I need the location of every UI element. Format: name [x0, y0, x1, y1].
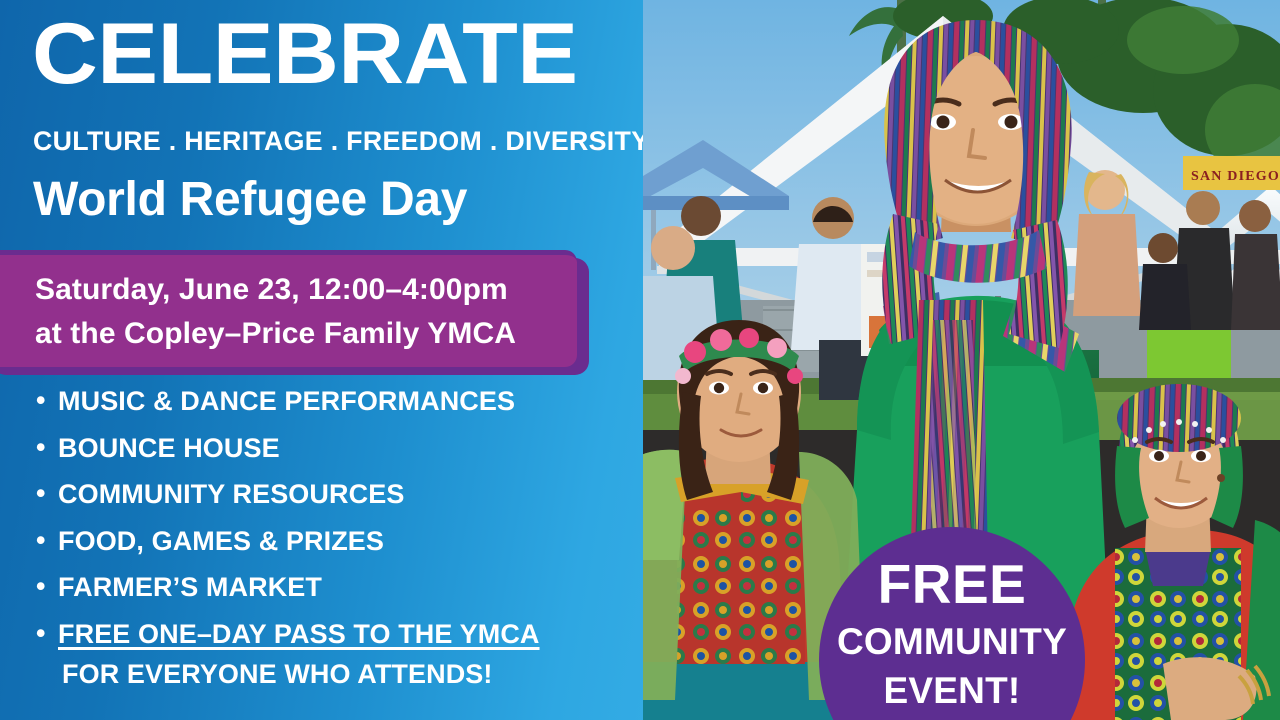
feature-label: FARMER’S MARKET	[58, 572, 322, 602]
list-item: FARMER’S MARKET	[36, 574, 616, 601]
left-info-panel: CELEBRATE CULTURE . HERITAGE . FREEDOM .…	[0, 0, 645, 720]
feature-label: COMMUNITY RESOURCES	[58, 479, 404, 509]
badge-line-community: COMMUNITY	[819, 623, 1085, 660]
list-item: COMMUNITY RESOURCES	[36, 481, 616, 508]
features-list: MUSIC & DANCE PERFORMANCES BOUNCE HOUSE …	[36, 388, 616, 707]
badge-line-event: EVENT!	[819, 672, 1085, 709]
event-details-banner: Saturday, June 23, 12:00–4:00pm at the C…	[0, 250, 600, 375]
event-location: at the Copley–Price Family YMCA	[35, 317, 516, 351]
list-item: BOUNCE HOUSE	[36, 435, 616, 462]
page-title: CELEBRATE	[32, 14, 645, 95]
list-item: FOOD, GAMES & PRIZES	[36, 528, 616, 555]
svg-text:SAN DIEGO: SAN DIEGO	[1191, 169, 1280, 184]
feature-label-continuation: FOR EVERYONE WHO ATTENDS!	[62, 661, 616, 688]
badge-line-free: FREE	[819, 557, 1085, 612]
poster-subtitle: CULTURE . HERITAGE . FREEDOM . DIVERSITY	[33, 126, 645, 157]
event-name: World Refugee Day	[33, 172, 467, 227]
list-item-free-pass: FREE ONE–DAY PASS TO THE YMCA FOR EVERYO…	[36, 621, 616, 688]
feature-label-underlined: FREE ONE–DAY PASS TO THE YMCA	[58, 619, 540, 649]
feature-label: MUSIC & DANCE PERFORMANCES	[58, 386, 515, 416]
feature-label: BOUNCE HOUSE	[58, 433, 280, 463]
list-item: MUSIC & DANCE PERFORMANCES	[36, 388, 616, 415]
feature-label: FOOD, GAMES & PRIZES	[58, 526, 384, 556]
event-datetime: Saturday, June 23, 12:00–4:00pm	[35, 273, 508, 307]
world-refugee-day-poster: CELEBRATE CULTURE . HERITAGE . FREEDOM .…	[0, 0, 1280, 720]
banner-body: Saturday, June 23, 12:00–4:00pm at the C…	[0, 250, 577, 367]
